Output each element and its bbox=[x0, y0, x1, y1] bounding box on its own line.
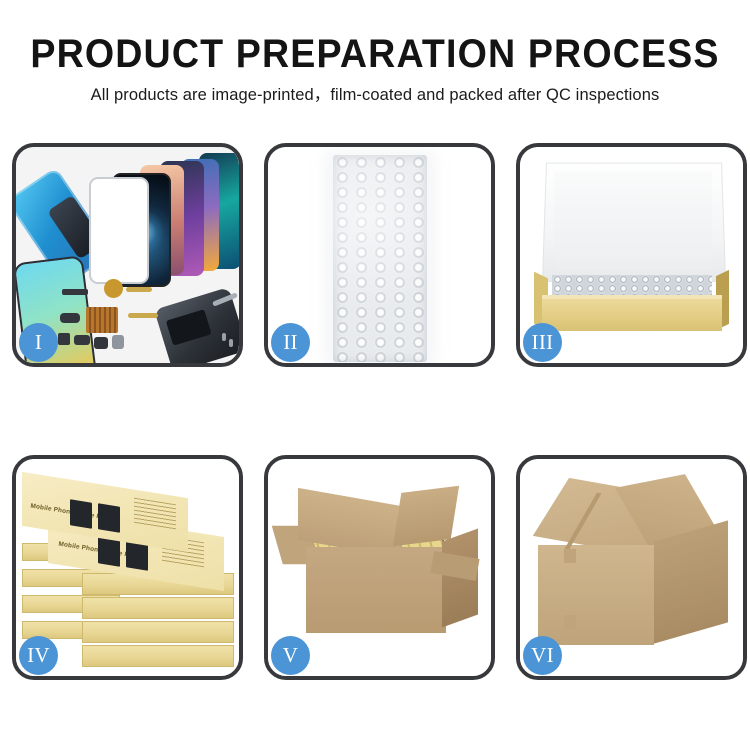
sealed-carton-front-panel bbox=[538, 545, 654, 645]
part-speaker-ring bbox=[104, 279, 123, 298]
tempered-glass-protector bbox=[89, 177, 149, 284]
step-badge-1: I bbox=[19, 323, 58, 362]
carton-flap-right bbox=[393, 486, 459, 546]
part-metal-bracket bbox=[112, 335, 124, 349]
step-badge-4: IV bbox=[19, 636, 58, 675]
sealed-carton-right-panel bbox=[654, 520, 728, 643]
retail-box-phone-image-2a bbox=[98, 537, 120, 566]
part-camera-module bbox=[60, 313, 80, 323]
process-step-card-5[interactable]: V bbox=[264, 455, 495, 680]
step-badge-5: V bbox=[271, 636, 310, 675]
retail-box-edge-8 bbox=[82, 645, 234, 667]
part-screw-1 bbox=[222, 333, 226, 341]
part-flex-cable-2 bbox=[128, 313, 158, 318]
box-lid-inner bbox=[554, 171, 712, 269]
part-logic-board bbox=[86, 307, 118, 333]
sealed-carton-tape-upper bbox=[564, 549, 576, 563]
sealed-carton-tape-lower bbox=[564, 615, 576, 631]
header: PRODUCT PREPARATION PROCESS All products… bbox=[0, 0, 750, 120]
process-step-card-2[interactable]: II bbox=[264, 143, 495, 367]
box-front-panel bbox=[542, 299, 722, 331]
process-step-card-6[interactable]: VI bbox=[516, 455, 747, 680]
process-step-grid: I II III bbox=[12, 143, 738, 680]
process-step-card-1[interactable]: I bbox=[12, 143, 243, 367]
bubble-wrap-sheet bbox=[333, 155, 427, 362]
part-connector-strip bbox=[62, 289, 88, 295]
part-button-set bbox=[58, 333, 70, 345]
process-step-card-3[interactable]: III bbox=[516, 143, 747, 367]
part-vibrator bbox=[74, 335, 90, 345]
part-sim-tray bbox=[94, 337, 108, 349]
step-badge-6: VI bbox=[523, 636, 562, 675]
carton-front-panel bbox=[306, 547, 446, 633]
page-subtitle: All products are image-printed，film-coat… bbox=[0, 84, 750, 106]
retail-box-stack: Mobile Phone Spare Parts Mobile Phone Sp… bbox=[22, 477, 237, 667]
retail-box-edge-6 bbox=[82, 597, 234, 619]
step-badge-3: III bbox=[523, 323, 562, 362]
page-title: PRODUCT PREPARATION PROCESS bbox=[23, 30, 728, 78]
retail-box-edge-7 bbox=[82, 621, 234, 643]
process-step-card-4[interactable]: Mobile Phone Spare Parts Mobile Phone Sp… bbox=[12, 455, 243, 680]
step-badge-2: II bbox=[271, 323, 310, 362]
retail-box-phone-image-1a bbox=[70, 499, 92, 528]
retail-box-phone-image-2b bbox=[126, 541, 148, 570]
retail-box-phone-image-1b bbox=[98, 503, 120, 532]
part-flex-cable-1 bbox=[126, 287, 152, 292]
part-screw-2 bbox=[229, 339, 233, 347]
